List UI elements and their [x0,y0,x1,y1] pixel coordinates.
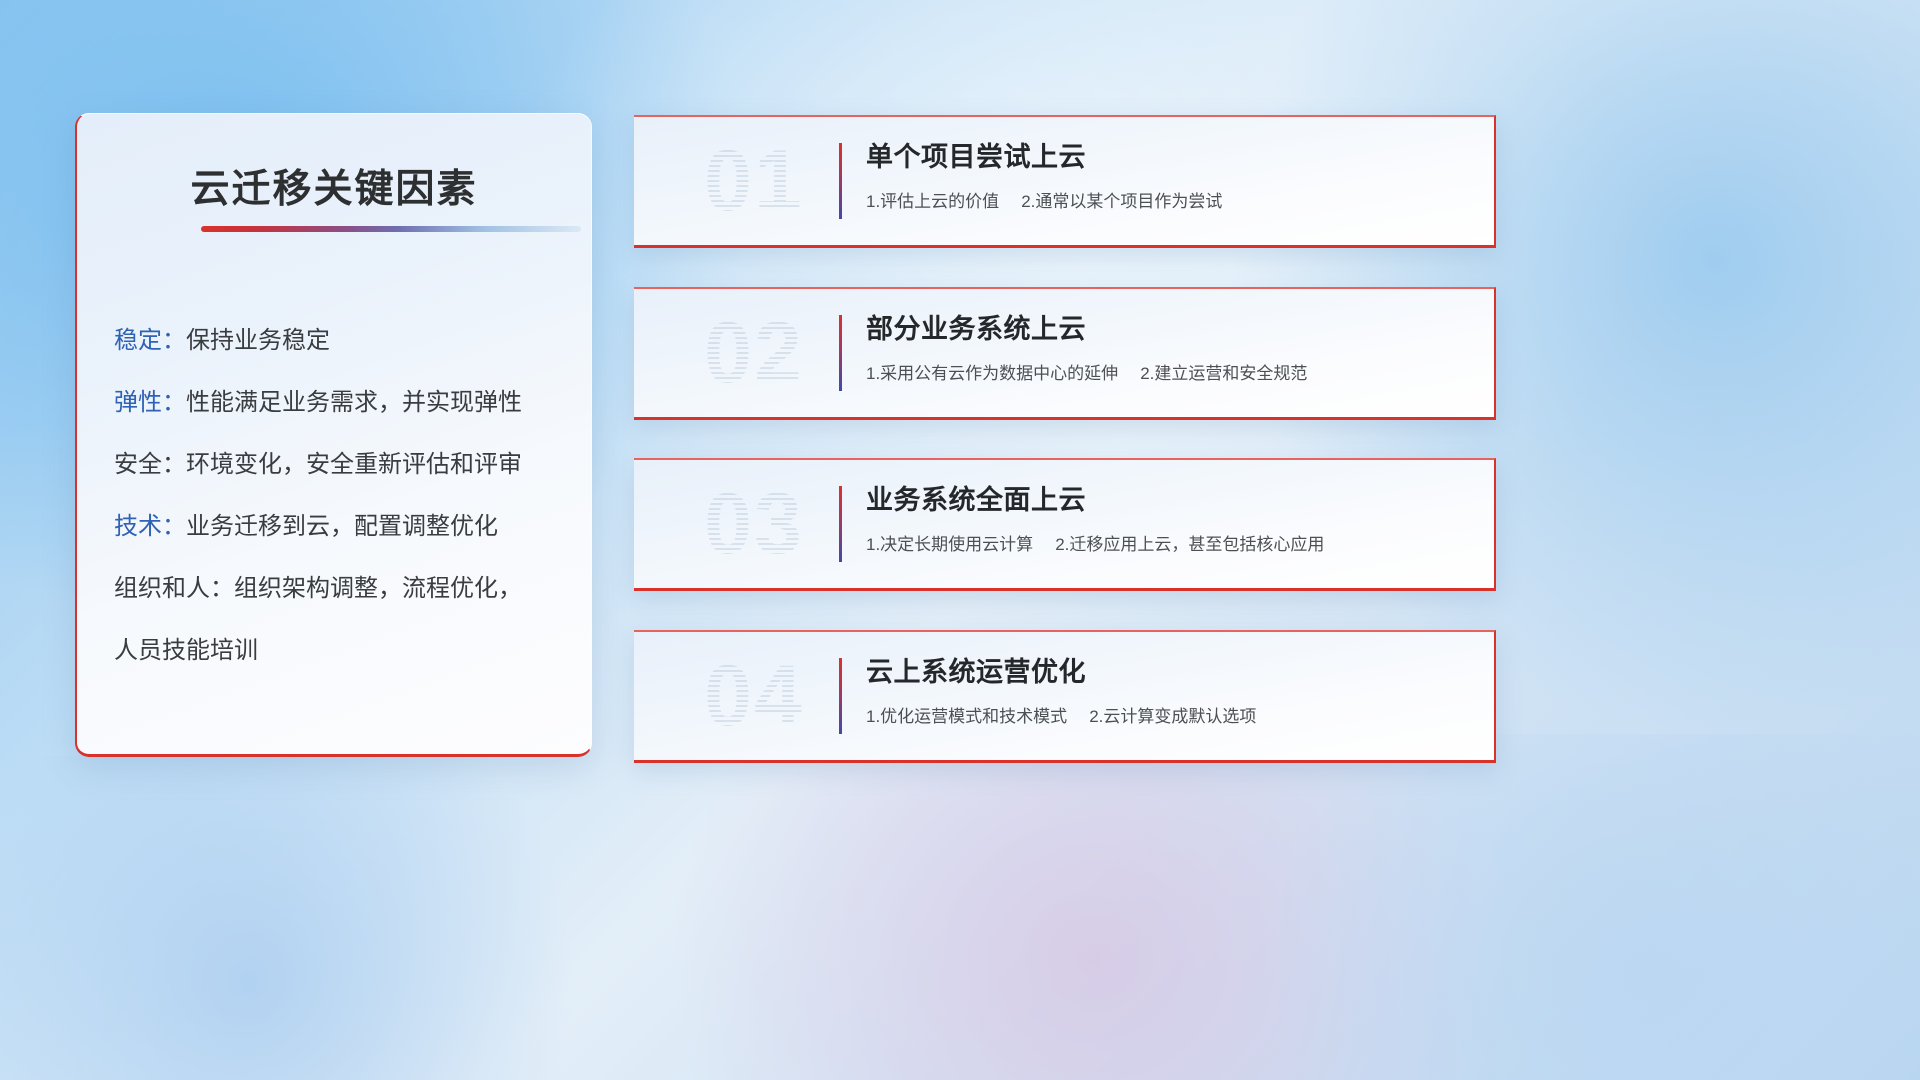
stage-point-2: 2.通常以某个项目作为尝试 [1021,192,1222,211]
stage-title: 业务系统全面上云 [866,480,1470,520]
stage-number-watermark: 04 [664,640,844,752]
key-factors-list: 稳定：保持业务稳定 弹性：性能满足业务需求，并实现弹性 安全：环境变化，安全重新… [114,310,573,682]
stage-point-2: 2.建立运营和安全规范 [1140,364,1307,383]
stage-body: 单个项目尝试上云 1.评估上云的价值2.通常以某个项目作为尝试 [866,137,1470,215]
list-item-key: 安全： [114,451,186,478]
slide-content: 云迁移关键因素 稳定：保持业务稳定 弹性：性能满足业务需求，并实现弹性 安全：环… [0,0,1920,1080]
stage-card-04[interactable]: 04 云上系统运营优化 1.优化运营模式和技术模式2.云计算变成默认选项 [634,630,1496,763]
stage-title: 单个项目尝试上云 [866,137,1470,177]
list-item-value: 性能满足业务需求，并实现弹性 [186,389,522,416]
stage-point-2: 2.云计算变成默认选项 [1089,707,1256,726]
stage-point-1: 1.采用公有云作为数据中心的延伸 [866,364,1118,383]
stage-description: 1.采用公有云作为数据中心的延伸2.建立运营和安全规范 [866,361,1470,387]
stage-card-01[interactable]: 01 单个项目尝试上云 1.评估上云的价值2.通常以某个项目作为尝试 [634,115,1496,248]
list-item: 弹性：性能满足业务需求，并实现弹性 [114,372,573,434]
stage-divider-accent [839,486,842,562]
stage-description: 1.评估上云的价值2.通常以某个项目作为尝试 [866,189,1470,215]
list-item-key: 组织和人： [114,575,234,602]
list-item-value: 业务迁移到云，配置调整优化 [186,513,498,540]
stage-body: 部分业务系统上云 1.采用公有云作为数据中心的延伸2.建立运营和安全规范 [866,309,1470,387]
stage-point-1: 1.优化运营模式和技术模式 [866,707,1067,726]
list-item: 安全：环境变化，安全重新评估和评审 [114,434,573,496]
stage-body: 业务系统全面上云 1.决定长期使用云计算2.迁移应用上云，甚至包括核心应用 [866,480,1470,558]
stage-card-03[interactable]: 03 业务系统全面上云 1.决定长期使用云计算2.迁移应用上云，甚至包括核心应用 [634,458,1496,591]
stage-description: 1.优化运营模式和技术模式2.云计算变成默认选项 [866,704,1470,730]
stage-point-1: 1.评估上云的价值 [866,192,999,211]
page-title: 云迁移关键因素 [77,158,591,214]
list-item-value: 人员技能培训 [114,637,258,664]
stage-number-watermark: 01 [664,125,844,237]
list-item-value: 组织架构调整，流程优化， [234,575,522,602]
list-item-key: 稳定： [114,327,186,354]
stage-number-watermark: 02 [664,297,844,409]
stage-number-watermark: 03 [664,468,844,580]
stage-body: 云上系统运营优化 1.优化运营模式和技术模式2.云计算变成默认选项 [866,652,1470,730]
stage-title: 部分业务系统上云 [866,309,1470,349]
stage-divider-accent [839,658,842,734]
stage-divider-accent [839,143,842,219]
stage-divider-accent [839,315,842,391]
stage-title: 云上系统运营优化 [866,652,1470,692]
list-item: 技术：业务迁移到云，配置调整优化 [114,496,573,558]
list-item-value: 保持业务稳定 [186,327,330,354]
list-item: 人员技能培训 [114,620,573,682]
list-item: 稳定：保持业务稳定 [114,310,573,372]
list-item-key: 技术： [114,513,186,540]
list-item-key: 弹性： [114,389,186,416]
list-item: 组织和人：组织架构调整，流程优化， [114,558,573,620]
list-item-value: 环境变化，安全重新评估和评审 [186,451,522,478]
stage-description: 1.决定长期使用云计算2.迁移应用上云，甚至包括核心应用 [866,532,1470,558]
title-underline-accent [201,226,581,232]
stage-card-02[interactable]: 02 部分业务系统上云 1.采用公有云作为数据中心的延伸2.建立运营和安全规范 [634,287,1496,420]
stage-point-1: 1.决定长期使用云计算 [866,535,1033,554]
stage-point-2: 2.迁移应用上云，甚至包括核心应用 [1055,535,1324,554]
key-factors-panel: 云迁移关键因素 稳定：保持业务稳定 弹性：性能满足业务需求，并实现弹性 安全：环… [75,113,592,757]
